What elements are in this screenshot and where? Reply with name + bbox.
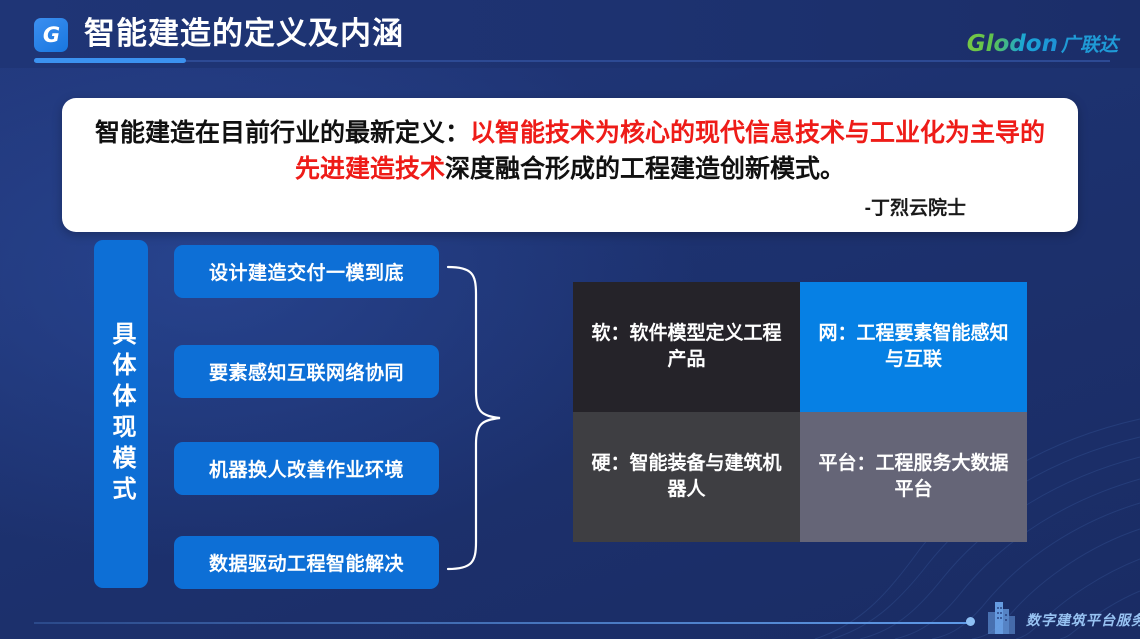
footer-divider-line bbox=[34, 622, 969, 624]
capability-quadrant-grid: 软：软件模型定义工程产品 网：工程要素智能感知与互联 硬：智能装备与建筑机器人 … bbox=[573, 282, 1027, 542]
page-title: 智能建造的定义及内涵 bbox=[84, 8, 404, 53]
brand-name-en: Glodon bbox=[967, 31, 1058, 57]
feature-pill-1[interactable]: 设计建造交付一模到底 bbox=[174, 245, 439, 298]
quadrant-cell-soft[interactable]: 软：软件模型定义工程产品 bbox=[573, 282, 800, 412]
slide-header: G 智能建造的定义及内涵 Glodon 广联达 bbox=[0, 0, 1140, 68]
brand-wordmark: Glodon 广联达 bbox=[967, 30, 1118, 57]
feature-pill-2[interactable]: 要素感知互联网络协同 bbox=[174, 345, 439, 398]
quadrant-cell-net[interactable]: 网：工程要素智能感知与互联 bbox=[800, 282, 1027, 412]
brand-name-cn: 广联达 bbox=[1061, 30, 1118, 57]
quadrant-cell-platform[interactable]: 平台：工程服务大数据平台 bbox=[800, 412, 1027, 542]
definition-lead: 智能建造在目前行业的最新定义： bbox=[95, 119, 470, 147]
definition-card: 智能建造在目前行业的最新定义：以智能技术为核心的现代信息技术与工业化为主导的先进… bbox=[62, 98, 1078, 232]
title-rule-accent bbox=[34, 58, 186, 63]
section-label-vertical: 具体体现模式 bbox=[94, 240, 148, 588]
building-icon bbox=[982, 596, 1022, 636]
section-label-text: 具体体现模式 bbox=[109, 321, 133, 507]
logo-letter: G bbox=[43, 25, 59, 46]
definition-attribution: -丁烈云院士 bbox=[88, 193, 1052, 220]
footer-tagline: 数字建筑平台服务商 bbox=[1026, 610, 1140, 630]
quadrant-cell-hard[interactable]: 硬：智能装备与建筑机器人 bbox=[573, 412, 800, 542]
feature-pill-4[interactable]: 数据驱动工程智能解决 bbox=[174, 536, 439, 589]
title-rule bbox=[34, 60, 1110, 62]
feature-pill-3[interactable]: 机器换人改善作业环境 bbox=[174, 442, 439, 495]
slide-canvas: G 智能建造的定义及内涵 Glodon 广联达 智能建造在目前行业的最新定义：以… bbox=[0, 0, 1140, 639]
curly-brace-connector bbox=[446, 264, 516, 572]
glodon-logo-badge: G bbox=[34, 18, 68, 52]
footer-line-endpoint-dot bbox=[966, 617, 975, 626]
definition-text: 智能建造在目前行业的最新定义：以智能技术为核心的现代信息技术与工业化为主导的先进… bbox=[88, 116, 1052, 187]
definition-tail: 深度融合形成的工程建造创新模式。 bbox=[445, 155, 845, 183]
